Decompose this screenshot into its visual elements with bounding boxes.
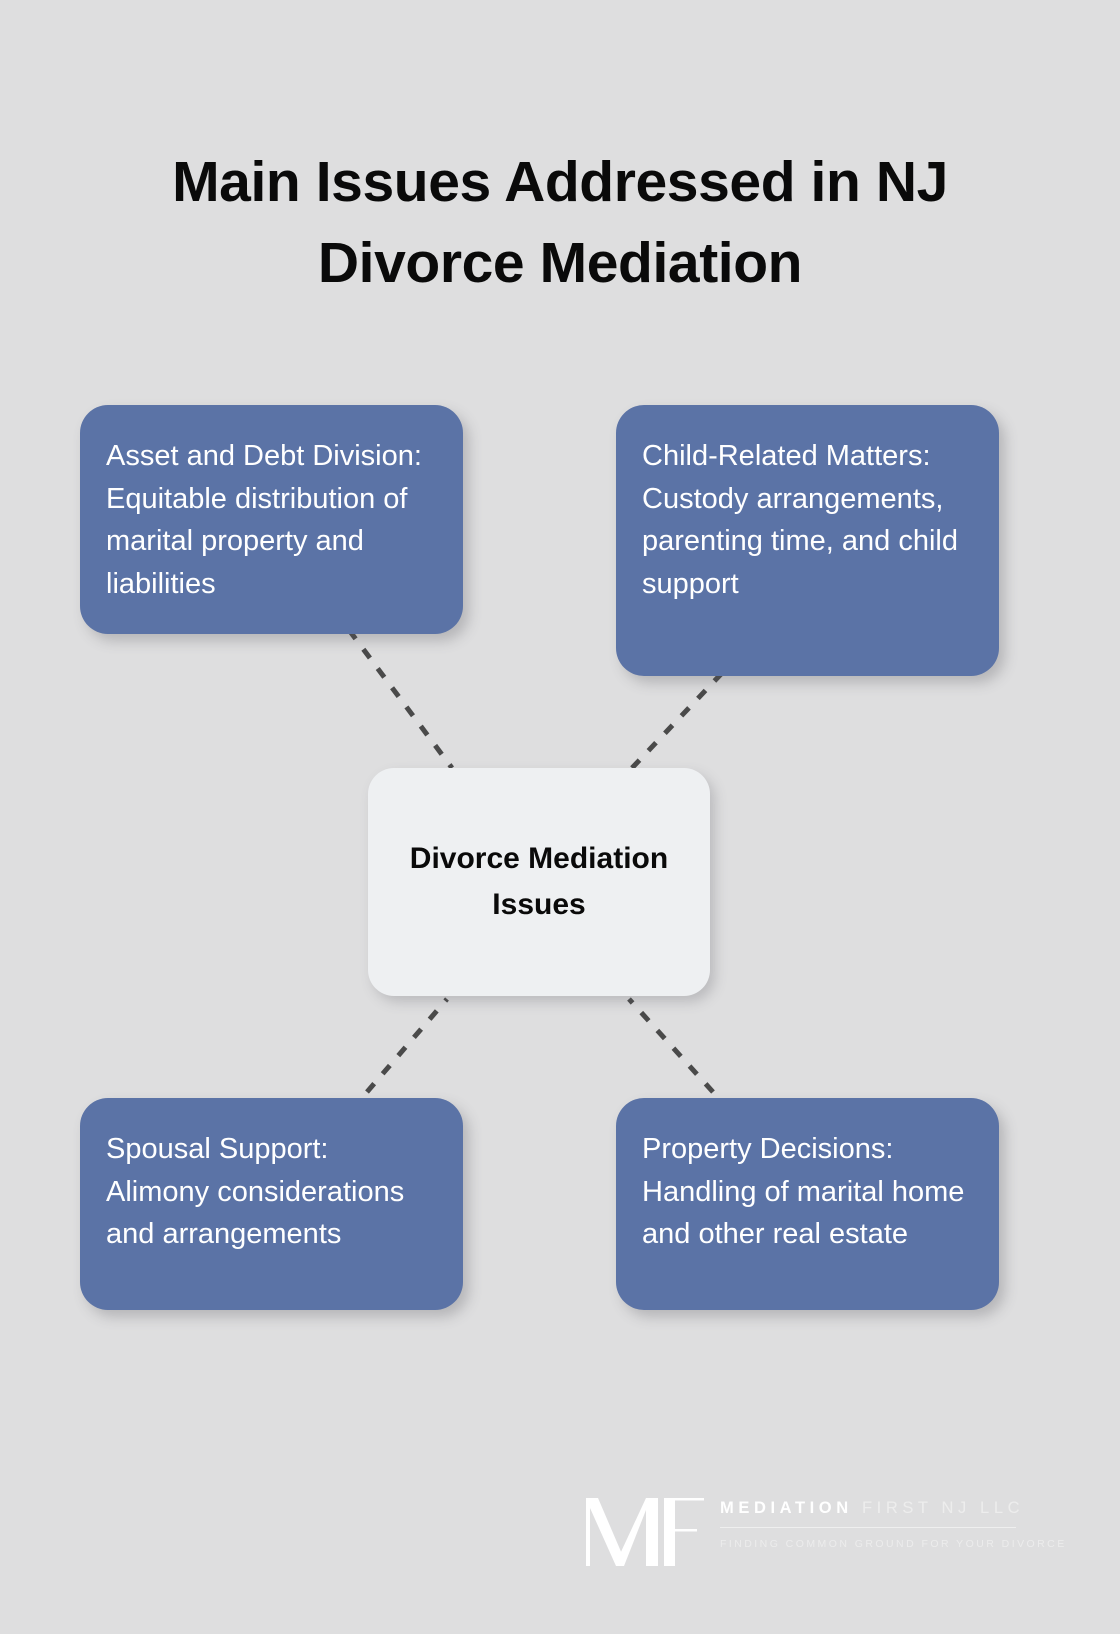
mf-monogram-icon <box>584 1498 704 1566</box>
node-center-label: Divorce Mediation Issues <box>368 836 710 928</box>
node-spousal-support-label: Spousal Support: Alimony considerations … <box>106 1128 437 1256</box>
logo-wordmark-strong: MEDIATION <box>720 1499 853 1517</box>
logo-text-block: MEDIATION FIRST NJ LLC FINDING COMMON GR… <box>720 1500 1016 1549</box>
connector-property-decisions <box>629 999 713 1092</box>
node-asset-debt-label: Asset and Debt Division: Equitable distr… <box>106 435 437 606</box>
node-property-decisions[interactable]: Property Decisions: Handling of marital … <box>616 1098 999 1310</box>
node-property-decisions-label: Property Decisions: Handling of marital … <box>642 1128 973 1256</box>
node-center-divorce-mediation-issues[interactable]: Divorce Mediation Issues <box>368 768 710 996</box>
logo-tagline: FINDING COMMON GROUND FOR YOUR DIVORCE <box>720 1539 1016 1550</box>
node-child-related[interactable]: Child-Related Matters: Custody arrangeme… <box>616 405 999 676</box>
logo-divider <box>720 1527 1016 1528</box>
logo-wordmark-light: FIRST NJ LLC <box>853 1499 1024 1517</box>
infographic-canvas: Main Issues Addressed in NJ Divorce Medi… <box>0 0 1120 1634</box>
logo-wordmark: MEDIATION FIRST NJ LLC <box>720 1500 1016 1517</box>
node-asset-debt[interactable]: Asset and Debt Division: Equitable distr… <box>80 405 463 634</box>
node-spousal-support[interactable]: Spousal Support: Alimony considerations … <box>80 1098 463 1310</box>
brand-logo: MEDIATION FIRST NJ LLC FINDING COMMON GR… <box>560 1448 1020 1568</box>
connector-child-related <box>632 673 722 768</box>
connector-asset-debt <box>349 630 452 768</box>
node-child-related-label: Child-Related Matters: Custody arrangeme… <box>642 435 973 606</box>
connector-spousal-support <box>367 999 447 1092</box>
